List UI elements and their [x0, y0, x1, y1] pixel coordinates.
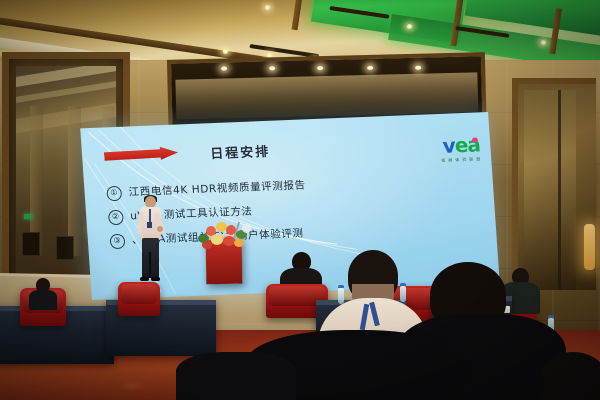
vea-letter-a: a [466, 132, 480, 156]
downlight-icon [415, 66, 421, 70]
flower [211, 235, 223, 245]
presenter-leg-split [149, 252, 151, 278]
attendee-far-left [26, 278, 60, 308]
flower [226, 225, 236, 235]
slide-title: 日程安排 [210, 141, 271, 162]
bullet-number: ② [108, 210, 124, 226]
chair-back [121, 284, 157, 304]
door-mullion [558, 90, 561, 290]
vea-wordmark: vea [440, 134, 483, 156]
chair [118, 282, 160, 316]
vea-logo: vea 视频体验联盟 [440, 134, 484, 164]
wall-lamp [584, 224, 595, 270]
right-doorway [512, 78, 596, 290]
mirror-reflection [68, 106, 81, 256]
bullet-number: ① [106, 186, 122, 202]
downlight-icon [540, 40, 547, 45]
attendee-bottom-right [540, 352, 600, 400]
flower [202, 241, 212, 249]
downlight-icon [222, 49, 229, 54]
attendee-foreground-silhouette [176, 352, 296, 400]
presenter [138, 196, 164, 282]
bullet-number: ③ [110, 234, 126, 250]
flower [234, 239, 244, 247]
downlight-icon [264, 5, 271, 10]
vea-letter-a-text: a [466, 132, 480, 156]
presenter-shoe [151, 277, 160, 281]
downlight-icon [406, 24, 413, 29]
badge [147, 222, 152, 228]
presenter-shoe [140, 277, 149, 281]
speaker-box [22, 232, 40, 256]
downlight-icon [317, 66, 323, 70]
downlight-icon [221, 66, 227, 70]
torso [29, 290, 57, 310]
conference-photo: 日程安排 vea 视频体验联盟 ① 江西电信4K HDR视频质量评测报告 ② u… [0, 0, 600, 400]
lanyard [149, 209, 151, 223]
presenter-hand [157, 226, 163, 232]
downlight-icon [269, 66, 275, 70]
exit-sign-icon [24, 214, 32, 219]
floral-arrangement [196, 222, 254, 250]
door-glass [524, 90, 576, 290]
speaker-box [56, 236, 74, 260]
downlight-icon [367, 66, 373, 70]
flower [242, 224, 251, 233]
